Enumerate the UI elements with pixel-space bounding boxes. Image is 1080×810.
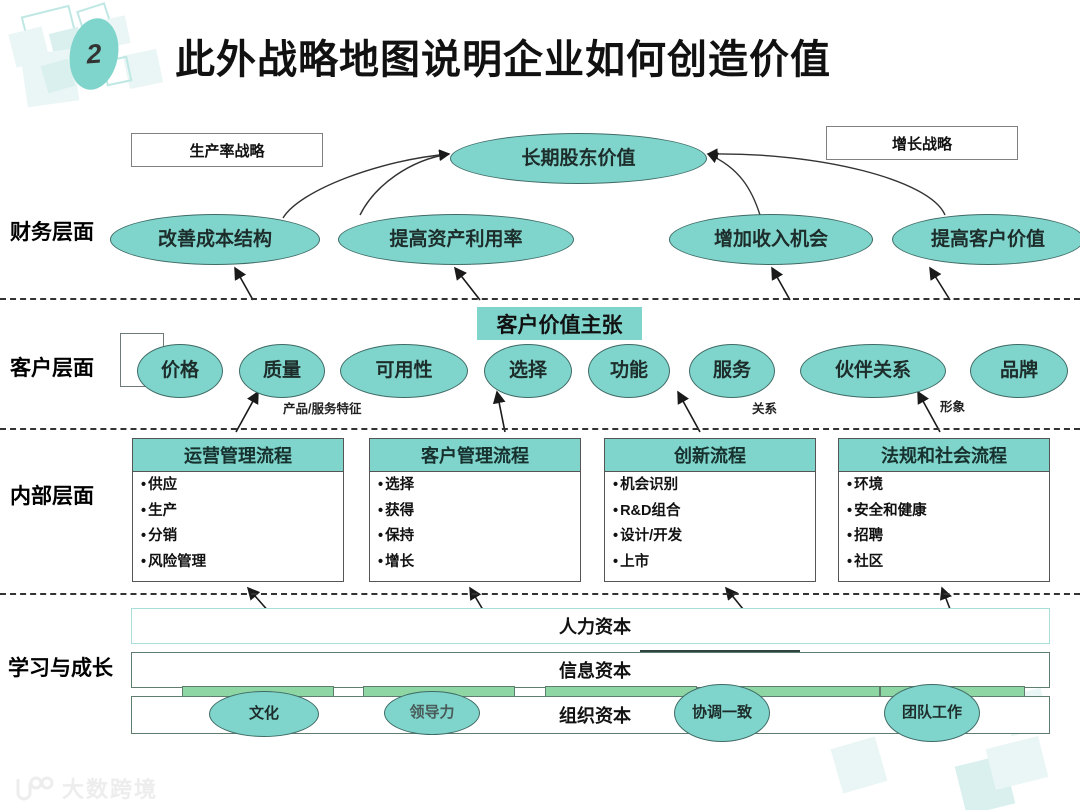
decor-square: [8, 26, 49, 67]
process-item: 安全和健康: [847, 504, 1049, 519]
strategy-caption-growth: 增长战略: [826, 126, 1018, 160]
process-item: 环境: [847, 478, 1049, 493]
process-item: 设计/开发: [613, 529, 815, 544]
financial-node-0[interactable]: 改善成本结构: [110, 214, 320, 265]
process-item: 增长: [378, 555, 580, 570]
process-item: R&D组合: [613, 504, 815, 519]
slide-number-text: 2: [68, 16, 121, 91]
customer-node-7[interactable]: 品牌: [970, 344, 1068, 398]
process-item: 风险管理: [141, 555, 343, 570]
learning-node-1[interactable]: 领导力: [384, 691, 480, 735]
decor-square: [955, 755, 1016, 810]
process-box-0[interactable]: 运营管理流程 供应 生产 分销 风险管理: [132, 438, 344, 582]
process-item: 上市: [613, 555, 815, 570]
capital-label-org: 组织资本: [559, 702, 631, 728]
process-item: 机会识别: [613, 478, 815, 493]
process-items-0: 供应 生产 分销 风险管理: [133, 472, 343, 569]
capital-label-info: 信息资本: [559, 657, 631, 683]
process-title-0: 运营管理流程: [133, 439, 343, 472]
financial-node-3[interactable]: 提高客户价值: [892, 214, 1080, 265]
customer-node-2[interactable]: 可用性: [340, 344, 468, 398]
process-item: 生产: [141, 504, 343, 519]
process-box-1[interactable]: 客户管理流程 选择 获得 保持 增长: [369, 438, 581, 582]
customer-node-6[interactable]: 伙伴关系: [800, 344, 946, 398]
watermark: 大数跨境: [14, 772, 158, 804]
divider-financial-customer: [0, 298, 1080, 300]
customer-node-4[interactable]: 功能: [588, 344, 670, 398]
process-box-3[interactable]: 法规和社会流程 环境 安全和健康 招聘 社区: [838, 438, 1050, 582]
learning-node-2[interactable]: 协调一致: [674, 684, 770, 742]
divider-internal-learning: [0, 593, 1080, 595]
capital-label-human: 人力资本: [559, 613, 631, 639]
decor-square: [986, 736, 1049, 790]
decor-square: [123, 49, 163, 89]
process-item: 社区: [847, 555, 1049, 570]
customer-group-label-product-service: 产品/服务特征: [283, 398, 361, 417]
process-title-2: 创新流程: [605, 439, 815, 472]
customer-node-0[interactable]: 价格: [137, 344, 223, 398]
watermark-text: 大数跨境: [62, 772, 158, 804]
customer-node-1[interactable]: 质量: [239, 344, 325, 398]
process-item: 招聘: [847, 529, 1049, 544]
slide-canvas: 2 此外战略地图说明企业如何创造价值: [0, 0, 1080, 810]
process-items-1: 选择 获得 保持 增长: [370, 472, 580, 569]
layer-label-learning: 学习与成长: [8, 652, 113, 682]
layer-label-internal: 内部层面: [10, 480, 94, 510]
capital-bar-info[interactable]: 信息资本: [131, 652, 1050, 688]
process-item: 分销: [141, 529, 343, 544]
learning-node-0[interactable]: 文化: [209, 691, 319, 737]
process-item: 获得: [378, 504, 580, 519]
divider-customer-internal: [0, 428, 1080, 430]
process-title-3: 法规和社会流程: [839, 439, 1049, 472]
process-items-2: 机会识别 R&D组合 设计/开发 上市: [605, 472, 815, 569]
process-title-1: 客户管理流程: [370, 439, 580, 472]
financial-node-2[interactable]: 增加收入机会: [669, 214, 873, 265]
capital-bar-human[interactable]: 人力资本: [131, 608, 1050, 644]
layer-label-financial: 财务层面: [10, 216, 94, 246]
customer-group-label-image: 形象: [940, 396, 965, 415]
layer-label-customer: 客户层面: [10, 352, 94, 382]
process-items-3: 环境 安全和健康 招聘 社区: [839, 472, 1049, 569]
process-item: 保持: [378, 529, 580, 544]
financial-node-1[interactable]: 提高资产利用率: [338, 214, 574, 265]
process-item: 选择: [378, 478, 580, 493]
customer-group-label-relationship: 关系: [752, 398, 777, 417]
strategy-caption-productivity: 生产率战略: [131, 133, 323, 167]
financial-node-shareholder-value[interactable]: 长期股东价值: [450, 133, 707, 184]
customer-node-5[interactable]: 服务: [689, 344, 775, 398]
process-item: 供应: [141, 478, 343, 493]
customer-node-3[interactable]: 选择: [484, 344, 572, 398]
process-box-2[interactable]: 创新流程 机会识别 R&D组合 设计/开发 上市: [604, 438, 816, 582]
page-title: 此外战略地图说明企业如何创造价值: [175, 27, 831, 85]
customer-value-proposition-banner: 客户价值主张: [477, 307, 642, 340]
decor-square: [831, 737, 888, 794]
brand-logo-icon: [14, 775, 54, 801]
learning-node-3[interactable]: 团队工作: [884, 684, 980, 742]
